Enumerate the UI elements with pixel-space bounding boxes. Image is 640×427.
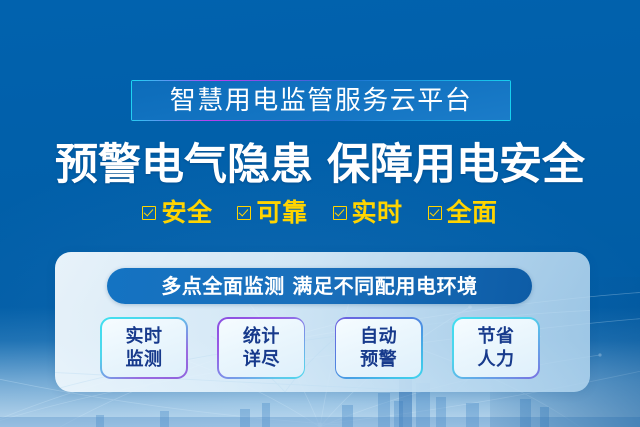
feature-card-line-1: 自动 (360, 326, 397, 348)
feature-card-line-1: 实时 (126, 326, 163, 348)
feature-card-line-2: 监测 (126, 349, 163, 371)
checkbox-checked-icon (428, 206, 442, 220)
check-item: 可靠 (237, 200, 307, 225)
feature-card-inner: 实时 监测 (102, 319, 187, 378)
feature-card-inner: 统计 详尽 (219, 319, 304, 378)
feature-card-list: 实时 监测 统计 详尽 自动 预警 节省 人力 (100, 317, 540, 379)
headline-part-2: 保障用电安全 (327, 140, 585, 190)
feature-check-row: 安全 可靠 实时 全面 (0, 200, 640, 225)
headline-part-1: 预警电气隐患 (55, 140, 313, 190)
check-item-label: 全面 (447, 200, 498, 225)
checkbox-checked-icon (142, 206, 156, 220)
feature-card-line-1: 统计 (243, 326, 280, 348)
feature-card-inner: 节省 人力 (454, 319, 539, 378)
feature-card-auto-alarm[interactable]: 自动 预警 (335, 317, 423, 379)
check-item: 全面 (428, 200, 498, 225)
check-item-label: 实时 (352, 200, 403, 225)
check-item: 实时 (333, 200, 403, 225)
feature-card-inner: 自动 预警 (336, 319, 421, 378)
feature-card-line-2: 预警 (360, 349, 397, 371)
feature-card-realtime-monitoring[interactable]: 实时 监测 (100, 317, 188, 379)
feature-card-line-2: 详尽 (243, 349, 280, 371)
platform-title-chip: 智慧用电监管服务云平台 (131, 80, 511, 121)
page-title: 智慧用电监管服务云平台 (170, 88, 473, 114)
monitoring-banner: 多点全面监测 满足不同配用电环境 (107, 268, 532, 304)
poster-canvas: 智慧用电监管服务云平台 预警电气隐患保障用电安全 安全 可靠 实时 全面 (0, 0, 640, 427)
checkbox-checked-icon (237, 206, 251, 220)
check-item: 安全 (142, 200, 212, 225)
feature-card-line-2: 人力 (477, 349, 514, 371)
monitoring-banner-text: 多点全面监测 满足不同配用电环境 (161, 276, 478, 296)
platform-title-chip-inner: 智慧用电监管服务云平台 (132, 81, 510, 120)
feature-card-detailed-statistics[interactable]: 统计 详尽 (217, 317, 305, 379)
feature-card-line-1: 节省 (477, 326, 514, 348)
headline: 预警电气隐患保障用电安全 (0, 139, 640, 191)
checkbox-checked-icon (333, 206, 347, 220)
check-item-label: 可靠 (256, 200, 307, 225)
check-item-label: 安全 (161, 200, 212, 225)
feature-card-save-manpower[interactable]: 节省 人力 (452, 317, 540, 379)
